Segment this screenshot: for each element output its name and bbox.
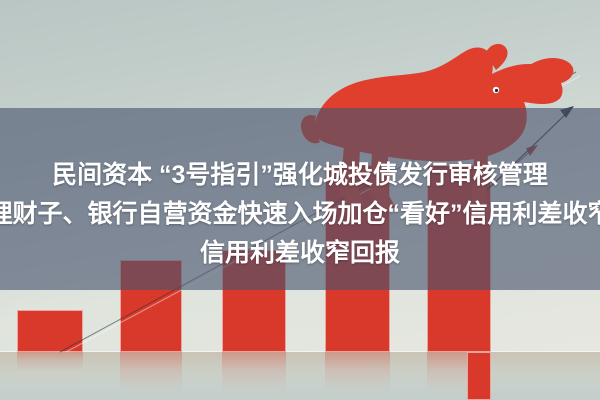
bar-4-reflection: [325, 352, 390, 392]
bar-2-reflection: [120, 352, 182, 392]
floor-warm-glow: [0, 352, 600, 386]
page-title: 民间资本 “3号指引”强化城投债发行审核管理 理财子、银行自营资金快速入场加仓“…: [0, 156, 600, 273]
bar-3-reflection: [222, 352, 286, 392]
bar-1-reflection: [17, 352, 83, 371]
bar-1: [17, 310, 83, 352]
headline-line-2: 理财子、银行自营资金快速入场加仓“看好”信用利差收窄: [0, 195, 600, 234]
floor-horizon-line: [0, 351, 600, 352]
headline-line-1: 民间资本 “3号指引”强化城投债发行审核管理: [0, 156, 600, 195]
headline-line-3: 信用利差收窄回报: [0, 234, 600, 273]
bar-6: [467, 352, 491, 400]
banner-image: 民间资本 “3号指引”强化城投债发行审核管理 理财子、银行自营资金快速入场加仓“…: [0, 0, 600, 400]
